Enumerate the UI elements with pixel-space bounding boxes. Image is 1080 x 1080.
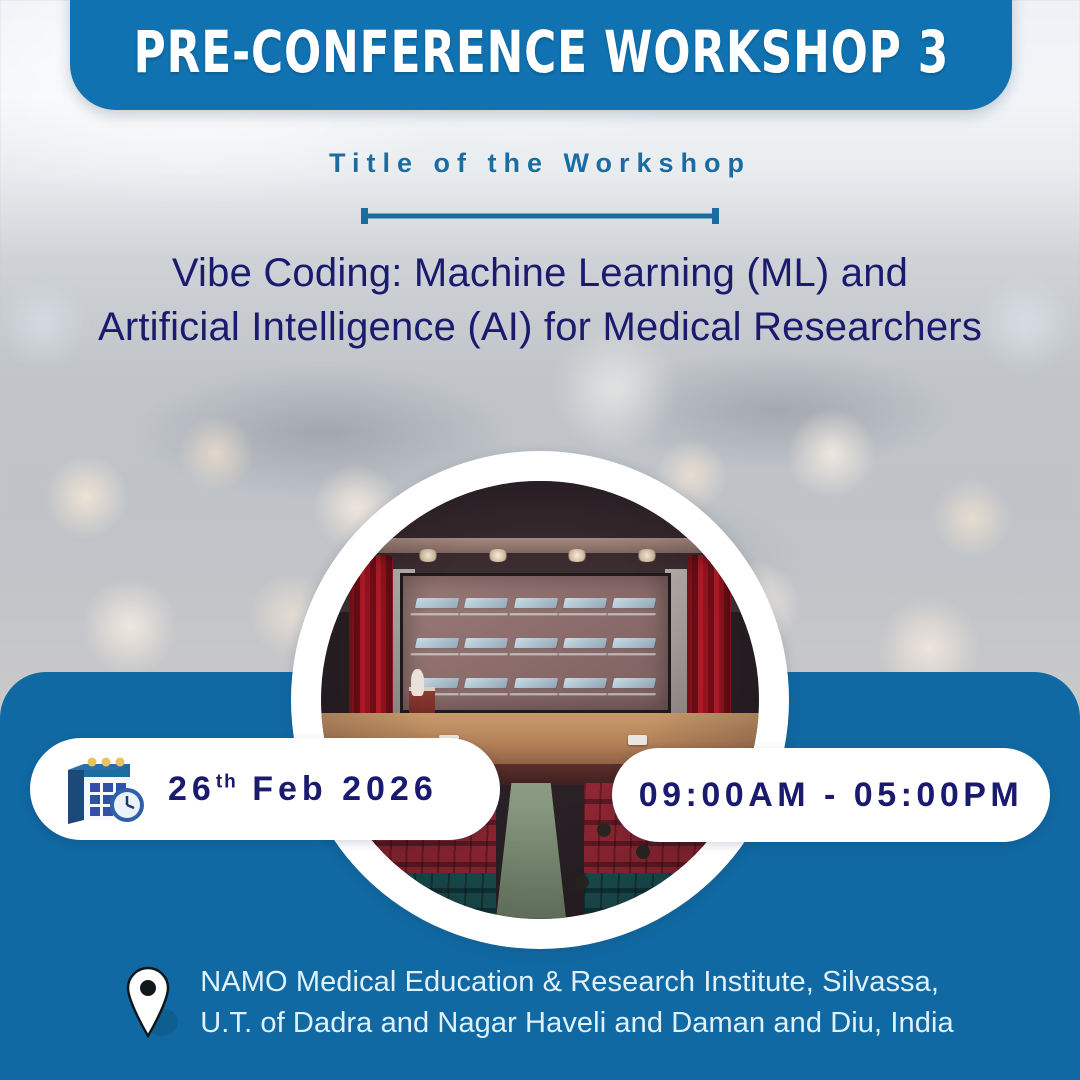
i-beam-divider-icon (361, 206, 719, 226)
location-pin-icon (126, 966, 178, 1040)
photo-vignette (321, 481, 759, 919)
date-month-year: Feb 2026 (252, 770, 438, 808)
date-ordinal: th (216, 771, 238, 792)
event-poster: PRE-CONFERENCE WORKSHOP 3 Title of the W… (0, 0, 1080, 1080)
venue-address-line-2: U.T. of Dadra and Nagar Haveli and Daman… (200, 1003, 953, 1044)
date-badge: 26th Feb 2026 (30, 738, 500, 840)
date-text: 26th Feb 2026 (168, 770, 438, 809)
workshop-title-line-2: Artificial Intelligence (AI) for Medical… (0, 300, 1080, 354)
calendar-clock-icon (54, 750, 146, 828)
date-day: 26 (168, 770, 216, 808)
header-banner: PRE-CONFERENCE WORKSHOP 3 (70, 0, 1012, 110)
time-text: 09:00AM - 05:00PM (639, 776, 1024, 815)
time-badge: 09:00AM - 05:00PM (612, 748, 1050, 842)
banner-title: PRE-CONFERENCE WORKSHOP 3 (133, 12, 948, 86)
workshop-subtitle-label: Title of the Workshop (0, 148, 1080, 179)
workshop-title: Vibe Coding: Machine Learning (ML) and A… (0, 246, 1080, 355)
venue-address-line-1: NAMO Medical Education & Research Instit… (200, 962, 953, 1003)
workshop-title-line-1: Vibe Coding: Machine Learning (ML) and (0, 246, 1080, 300)
venue-address: NAMO Medical Education & Research Instit… (200, 962, 953, 1044)
auditorium-photo (321, 481, 759, 919)
venue-footer: NAMO Medical Education & Research Instit… (0, 962, 1080, 1044)
circular-photo-frame (291, 451, 789, 949)
